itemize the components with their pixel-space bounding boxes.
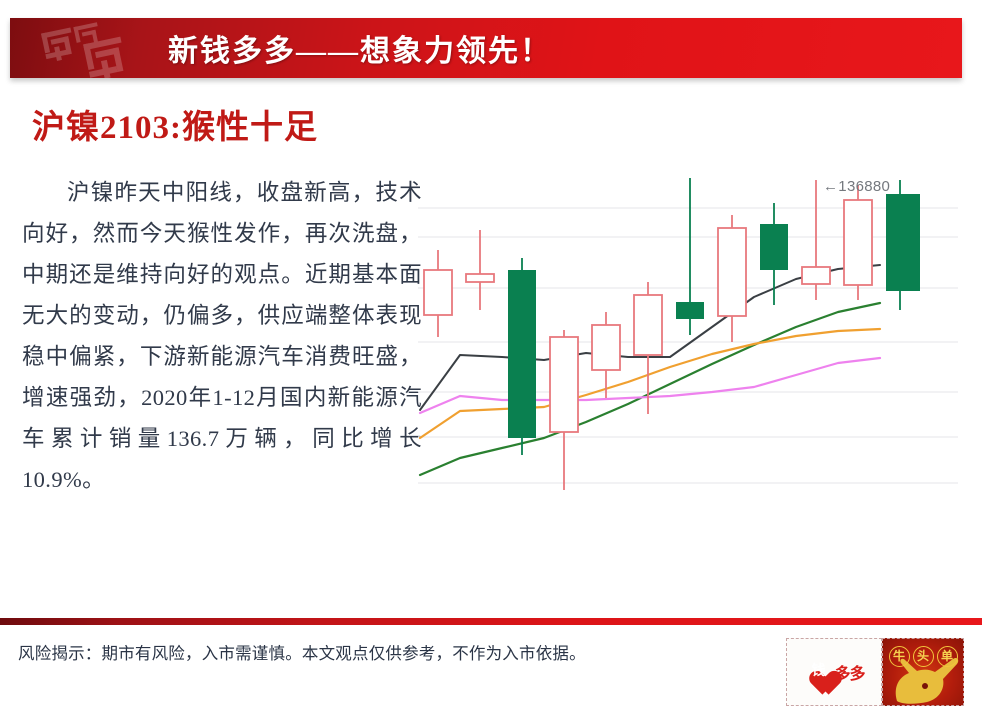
price-label-annotation: ←136880 [823,178,890,195]
candle-series [424,178,920,490]
candle-0 [424,250,452,337]
candle-3 [550,330,578,490]
candlestick-chart: ←136880 [418,170,958,510]
footer-disclaimer: 风险揭示：期市有风险，入市需谨慎。本文观点仅供参考，不作为入市依据。 [18,640,586,664]
footer-divider [0,618,982,625]
header-title: 新钱多多——想象力领先！ [168,26,552,70]
qianduoduo-heart-char: 钱 [803,662,833,682]
candle-8 [760,203,788,305]
page-title: 沪镍2103:猴性十足 [32,100,318,148]
candle-7 [718,215,746,342]
chinese-knot-icon [32,20,150,78]
footer-logos: 钱 多多 牛 头 单 [786,638,964,706]
body-paragraph: 沪镍昨天中阳线，收盘新高，技术向好，然而今天猴性发作，再次洗盘，中期还是维持向好… [22,172,422,500]
niutoudan-chars: 牛 头 单 [883,646,963,667]
chart-gridlines [418,208,958,483]
candle-11 [886,180,920,310]
niutoudan-logo: 牛 头 单 [882,638,964,706]
heart-icon: 钱 [803,658,833,686]
candle-5 [634,282,662,414]
qianduoduo-logo: 钱 多多 [786,638,882,706]
niutoudan-char-2: 单 [937,646,958,667]
candle-6 [676,178,704,335]
candle-10 [844,185,872,300]
chart-canvas [418,170,958,510]
header-banner: 新钱多多——想象力领先！ [10,18,962,78]
niutoudan-char-0: 牛 [889,646,910,667]
ma-line-pink [420,358,880,413]
candle-2 [508,258,536,455]
candle-1 [466,230,494,310]
niutoudan-char-1: 头 [913,646,934,667]
candle-9 [802,180,830,300]
